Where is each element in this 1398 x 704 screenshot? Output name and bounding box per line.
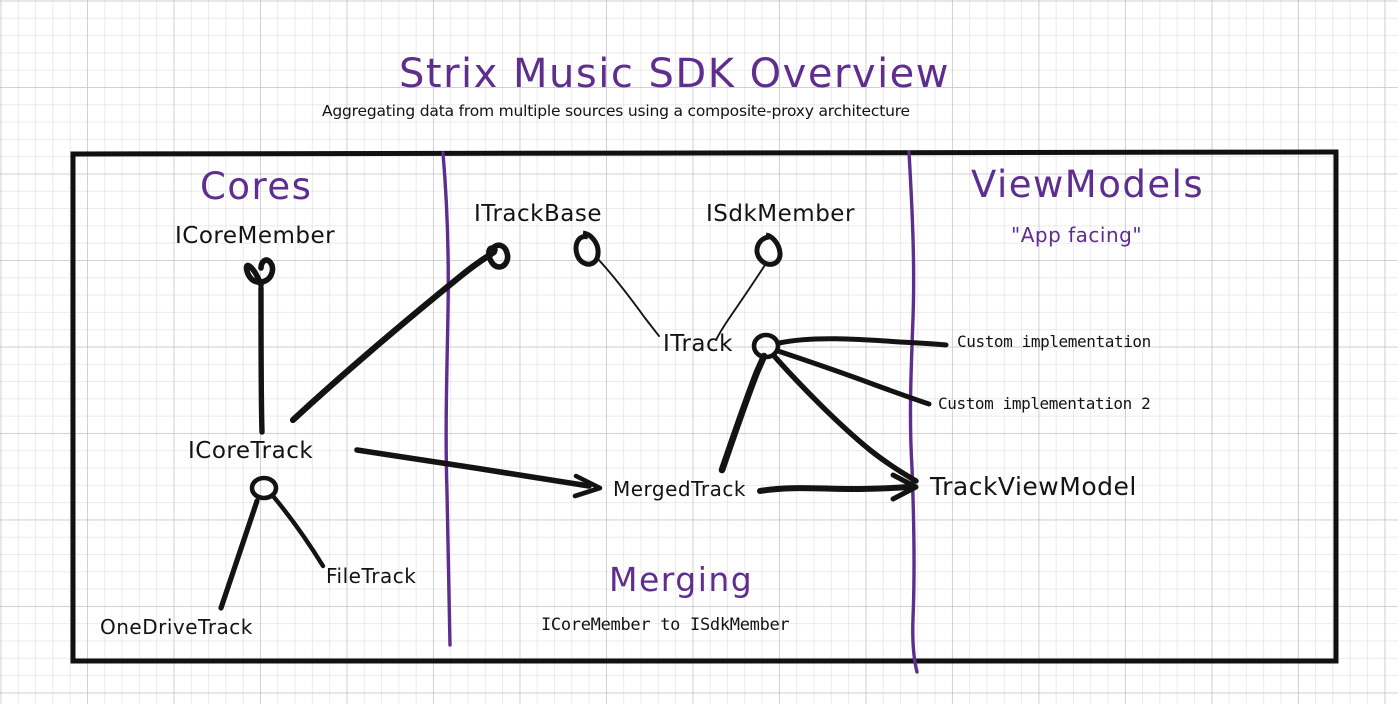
- section-heading-viewmodels: ViewModels: [971, 166, 1204, 203]
- section-heading-merging: Merging: [609, 563, 753, 596]
- edge-onedrivetrack-to-icoretrack: [221, 501, 257, 608]
- edge-mergedtrack-to-itrack: [722, 356, 764, 470]
- node-label-itrackbase: ITrackBase: [474, 203, 602, 226]
- section-subheading-viewmodels: "App facing": [1011, 225, 1142, 245]
- edge-isdkmember-to-itrack: [716, 265, 765, 340]
- edge-filetrack-to-icoretrack: [273, 496, 323, 566]
- edge-itrack-to-custom2: [778, 351, 929, 404]
- annotation-custom-implementation-2: Custom implementation 2: [938, 396, 1150, 412]
- node-label-filetrack: FileTrack: [326, 566, 416, 586]
- node-dot-itrackbase: [576, 233, 598, 264]
- diagram-canvas: Strix Music SDK Overview Aggregating dat…: [0, 0, 1398, 704]
- edge-icoretrack-to-itrackbase: [293, 245, 508, 420]
- edge-itrackbase-to-itrack: [597, 258, 659, 336]
- node-label-trackviewmodel: TrackViewModel: [930, 474, 1137, 499]
- edge-icoretrack-to-icoremember: [246, 260, 272, 432]
- lane-divider-right: [909, 152, 917, 672]
- edge-mergedtrack-to-trackviewmodel: [760, 475, 916, 499]
- node-label-isdkmember: ISdkMember: [706, 203, 855, 226]
- edge-itrack-to-custom1: [779, 339, 946, 345]
- node-dot-isdkmember: [757, 235, 780, 264]
- node-label-icoremember: ICoreMember: [175, 225, 335, 248]
- annotation-custom-implementation: Custom implementation: [957, 334, 1151, 350]
- node-label-mergedtrack: MergedTrack: [613, 479, 746, 499]
- node-label-onedrivetrack: OneDriveTrack: [100, 617, 253, 637]
- lane-divider-left: [443, 153, 450, 645]
- section-heading-cores: Cores: [200, 168, 312, 205]
- section-subheading-merging: ICoreMember to ISdkMember: [541, 617, 789, 634]
- node-label-itrack: ITrack: [663, 333, 733, 356]
- edge-icoretrack-to-mergedtrack: [357, 450, 600, 496]
- node-label-icoretrack: ICoreTrack: [188, 440, 313, 463]
